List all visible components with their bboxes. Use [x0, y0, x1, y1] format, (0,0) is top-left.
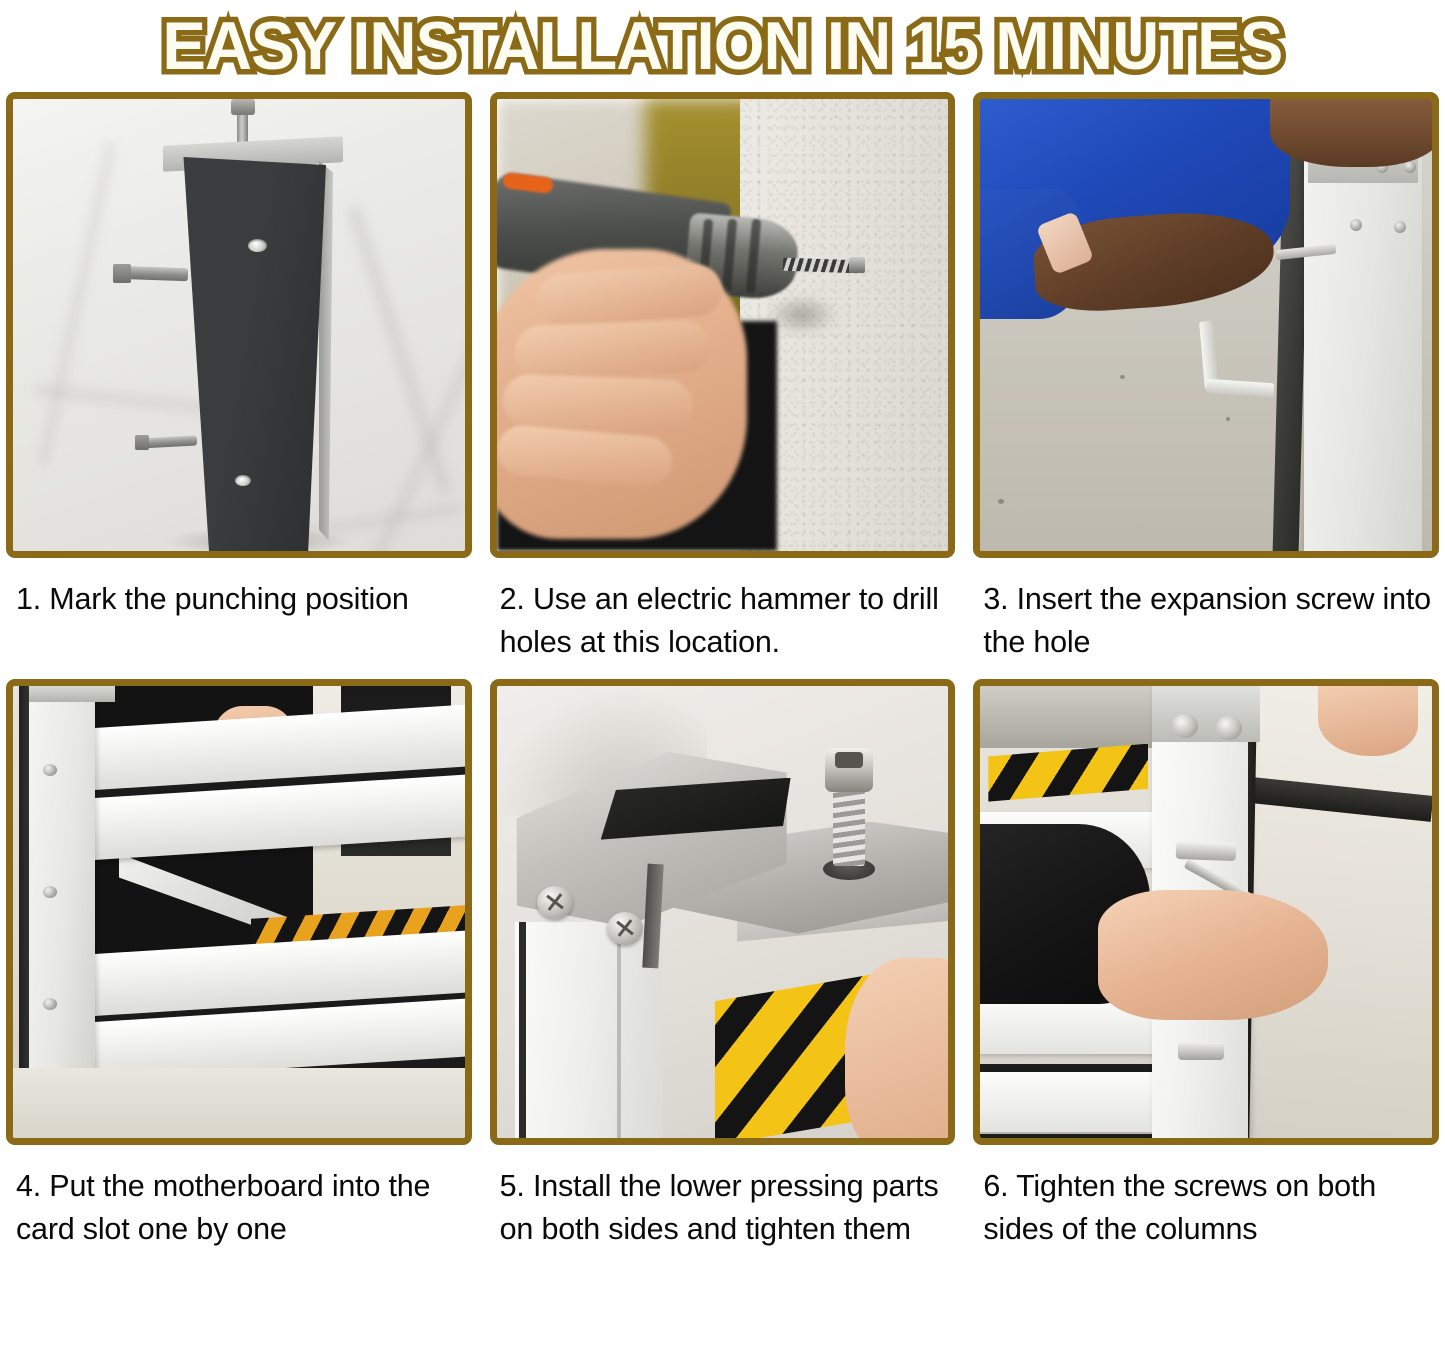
finger: [502, 374, 694, 433]
column-screw: [1216, 716, 1242, 740]
step-caption-3: 3. Insert the expansion screw into the h…: [973, 558, 1439, 665]
barrier-board: [980, 1072, 1156, 1132]
photo-pressing-bracket: [497, 686, 949, 1138]
post-groove: [617, 922, 621, 1138]
step-caption-5: 5. Install the lower pressing parts on b…: [490, 1145, 956, 1252]
step-photo-1: [6, 92, 472, 558]
post-screw: [1350, 219, 1362, 231]
board-gap: [980, 1064, 1156, 1072]
hazard-stripe: [988, 744, 1148, 802]
drill-dust: [767, 295, 837, 335]
post-screw: [1404, 161, 1416, 173]
side-bolt: [1178, 1042, 1224, 1060]
phillips-screw: [607, 912, 643, 945]
step-card-5: 5. Install the lower pressing parts on b…: [490, 679, 956, 1252]
floor-surface: [13, 1068, 465, 1138]
step-card-6: 6. Tighten the screws on both sides of t…: [973, 679, 1439, 1252]
column-screw: [1172, 714, 1198, 738]
cloth-fold: [347, 204, 451, 493]
side-bolt: [1176, 841, 1237, 861]
step-caption-6: 6. Tighten the screws on both sides of t…: [973, 1145, 1439, 1252]
installation-steps-grid-row2: 4. Put the motherboard into the card slo…: [0, 679, 1445, 1252]
metal-post-template: [176, 157, 326, 551]
photo-marking-position: [13, 99, 465, 551]
row-gap: [0, 665, 1445, 679]
step-caption-2: 2. Use an electric hammer to drill holes…: [490, 558, 956, 665]
column-screw: [43, 886, 57, 898]
drill-bit: [782, 258, 858, 274]
forearm-hand: [1098, 890, 1328, 1020]
white-post: [515, 922, 663, 1138]
phillips-screw: [537, 886, 573, 919]
step-photo-3: [973, 92, 1439, 558]
step-photo-5: [490, 679, 956, 1145]
card-slot-column: [29, 686, 95, 1098]
board-gap: [980, 1134, 1156, 1138]
step-caption-4: 4. Put the motherboard into the card slo…: [6, 1145, 472, 1252]
photo-drilling-wall: [497, 99, 949, 551]
post-screw: [1394, 221, 1406, 233]
step-card-4: 4. Put the motherboard into the card slo…: [6, 679, 472, 1252]
bolt-thread: [833, 788, 865, 866]
page-title: EASY INSTALLATION IN 15 MINUTES: [162, 12, 1282, 80]
step-caption-1: 1. Mark the punching position: [6, 558, 472, 621]
step-card-3: 3. Insert the expansion screw into the h…: [973, 92, 1439, 665]
column-screw: [43, 998, 57, 1010]
photo-boards-into-slot: [13, 686, 465, 1138]
rod-nut: [135, 435, 149, 450]
cloth-fold: [39, 142, 115, 466]
photo-expansion-screw: [980, 99, 1432, 551]
white-aluminium-post: [1304, 121, 1422, 551]
post-edge-line: [519, 922, 526, 1138]
header-banner: EASY INSTALLATION IN 15 MINUTES: [0, 0, 1445, 92]
rod-nut: [113, 264, 131, 283]
step-card-2: 2. Use an electric hammer to drill holes…: [490, 92, 956, 665]
installation-steps-grid: 1. Mark the punching position: [0, 92, 1445, 665]
drill-bit-tip: [849, 257, 865, 273]
second-hand: [1270, 99, 1432, 167]
column-cap: [1152, 686, 1260, 742]
step-photo-4: [6, 679, 472, 1145]
second-hand: [1318, 686, 1418, 756]
photo-tighten-screws: [980, 686, 1432, 1138]
finger: [514, 320, 711, 379]
step-photo-6: [973, 679, 1439, 1145]
column-screw: [43, 764, 57, 776]
step-card-1: 1. Mark the punching position: [6, 92, 472, 665]
bolt-hole: [235, 475, 251, 486]
background-upper: [980, 686, 1160, 748]
bolt-hole: [248, 239, 267, 252]
column-cap: [29, 686, 115, 702]
bolt-head: [231, 99, 255, 115]
step-photo-2: [490, 92, 956, 558]
hex-socket: [835, 752, 863, 768]
